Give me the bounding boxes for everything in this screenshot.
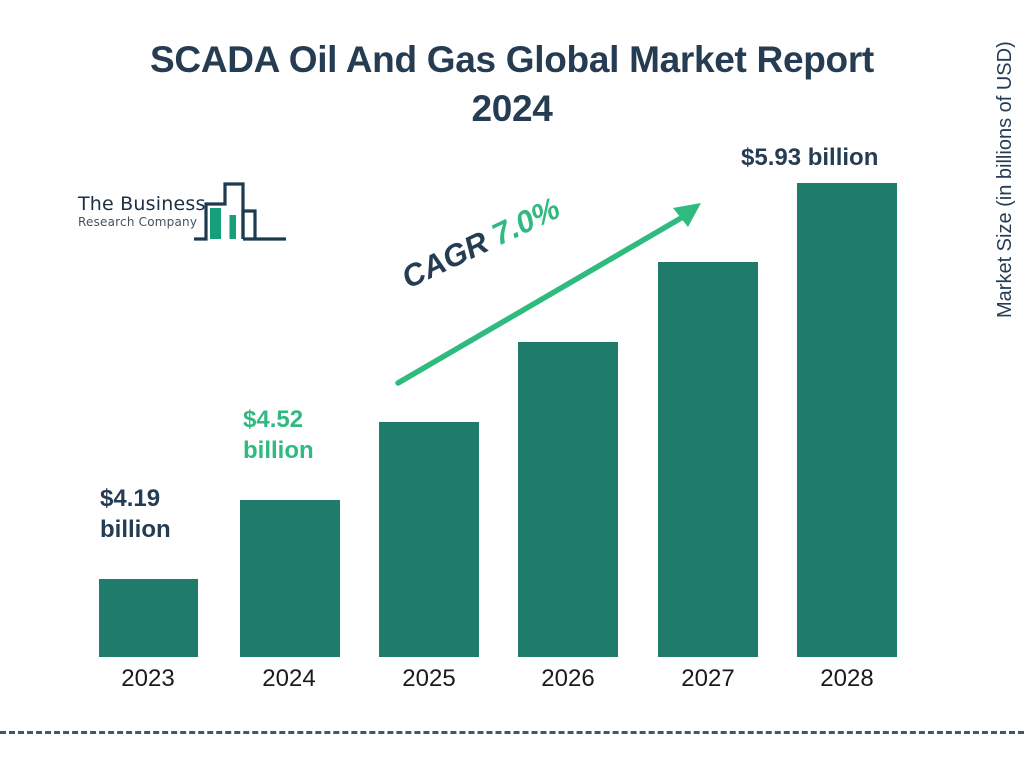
chart-canvas: SCADA Oil And Gas Global Market Report 2… [0, 0, 1024, 768]
bar-2023 [99, 579, 198, 657]
bars-layer [0, 0, 1024, 768]
bar-2028 [797, 183, 897, 657]
bottom-divider [0, 731, 1024, 734]
xtick-2025: 2025 [369, 665, 489, 693]
value-label-2023: $4.19 billion [100, 484, 171, 545]
value-label-2028: $5.93 billion [741, 143, 878, 174]
xtick-2023: 2023 [88, 665, 208, 693]
bar-2025 [379, 422, 479, 657]
xtick-2026: 2026 [508, 665, 628, 693]
value-label-2024: $4.52 billion [243, 405, 314, 466]
xtick-2027: 2027 [648, 665, 768, 693]
xtick-2028: 2028 [787, 665, 907, 693]
bar-2026 [518, 342, 618, 657]
bar-2024 [240, 500, 340, 657]
xtick-2024: 2024 [229, 665, 349, 693]
y-axis-title: Market Size (in billions of USD) [994, 290, 1017, 318]
bar-2027 [658, 262, 758, 657]
